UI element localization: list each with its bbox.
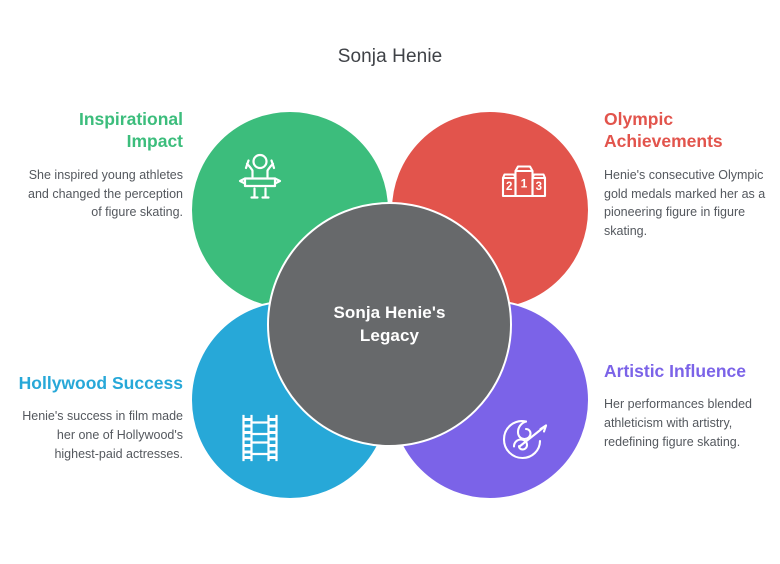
infographic-canvas: Sonja Henie [0, 0, 780, 564]
body-artistic-influence: Her performances blended athleticism wit… [604, 395, 769, 451]
center-hub-label: Sonja Henie's Legacy [310, 302, 470, 347]
text-block-hollywood-success: Hollywood Success Henie's success in fil… [18, 372, 183, 464]
text-block-artistic-influence: Artistic Influence Her performances blen… [604, 360, 769, 452]
heading-olympic-achievements: Olympic Achievements [604, 108, 769, 153]
svg-text:2: 2 [506, 181, 512, 193]
figure-skating-spiral-icon [496, 410, 552, 466]
svg-text:3: 3 [536, 181, 542, 193]
heading-inspirational-impact: Inspirational Impact [18, 108, 183, 153]
body-hollywood-success: Henie's success in film made her one of … [18, 407, 183, 463]
text-block-inspirational-impact: Inspirational Impact She inspired young … [18, 108, 183, 222]
heading-hollywood-success: Hollywood Success [18, 372, 183, 394]
text-block-olympic-achievements: Olympic Achievements Henie's consecutive… [604, 108, 769, 241]
venn-diagram: 2 1 3 [190, 110, 590, 500]
person-raising-arms-banner-icon [232, 150, 288, 206]
film-strip-icon [232, 410, 288, 466]
body-olympic-achievements: Henie's consecutive Olympic gold medals … [604, 166, 769, 241]
body-inspirational-impact: She inspired young athletes and changed … [18, 166, 183, 222]
winners-podium-icon: 2 1 3 [496, 150, 552, 206]
page-title: Sonja Henie [0, 46, 780, 68]
center-hub[interactable]: Sonja Henie's Legacy [267, 202, 512, 447]
heading-artistic-influence: Artistic Influence [604, 360, 769, 382]
svg-text:1: 1 [521, 177, 528, 191]
